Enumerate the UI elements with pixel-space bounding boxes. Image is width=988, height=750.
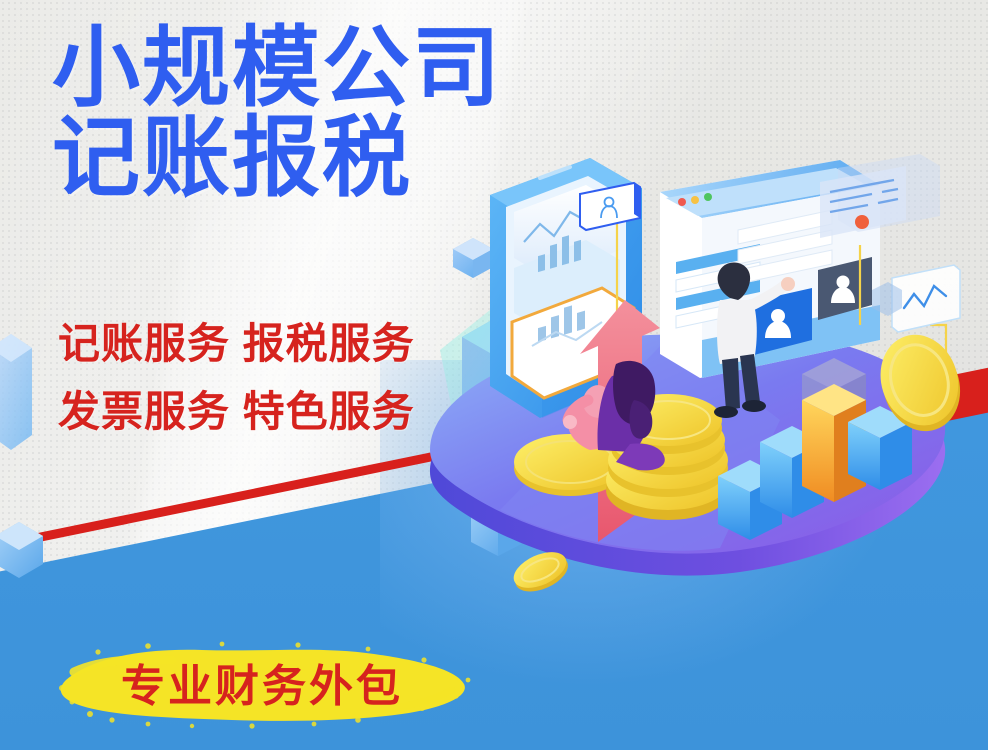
headline-line-1: 小规模公司: [52, 18, 502, 117]
isometric-illustration: [420, 150, 988, 620]
poster-canvas: 小规模公司 记账报税 记账服务 报税服务 发票服务 特色服务 专业财务外包: [0, 0, 988, 750]
service-list: 记账服务 报税服务 发票服务 特色服务: [58, 310, 415, 446]
service-line-1: 记账服务 报税服务: [58, 310, 415, 378]
service-line-2: 发票服务 特色服务: [58, 378, 415, 446]
footer-tag-text: 专业财务外包: [52, 636, 472, 732]
decor-cube-far-left: [0, 330, 32, 460]
poster-headline: 小规模公司 记账报税: [52, 26, 502, 199]
decor-cube-left-edge: [0, 520, 44, 580]
headline-line-2: 记账报税: [52, 116, 502, 200]
notification-dot: [855, 215, 869, 229]
footer-tagline: 专业财务外包: [52, 636, 472, 732]
